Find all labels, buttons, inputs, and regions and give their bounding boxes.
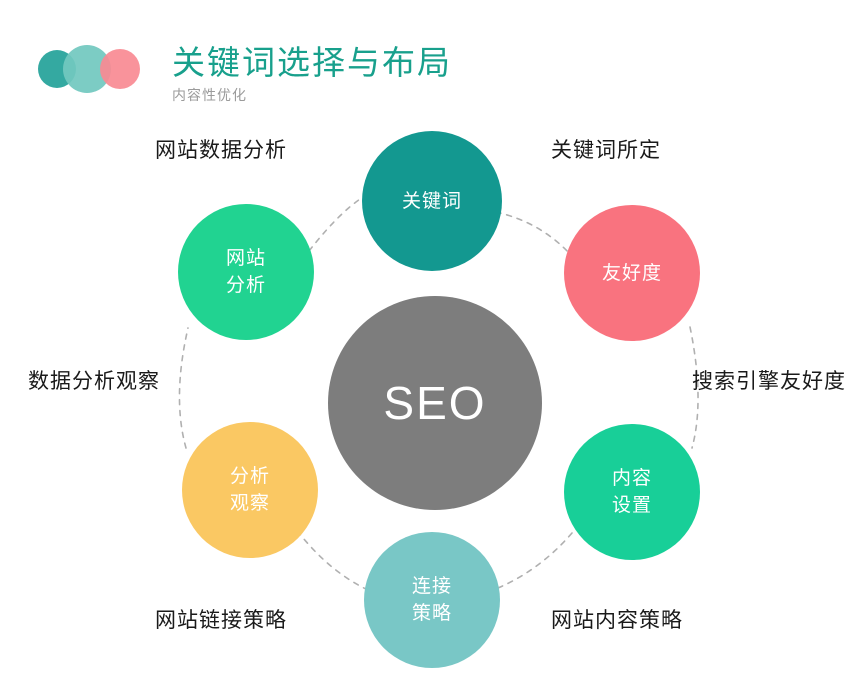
- node-friendly-label: 友好度: [602, 260, 662, 287]
- connector-observe-analysis: [179, 328, 188, 448]
- node-content-setting-label: 内容 设置: [612, 465, 652, 519]
- node-analysis-observation[interactable]: 分析 观察: [182, 422, 318, 558]
- outer-label-site-data: 网站数据分析: [155, 138, 287, 164]
- node-link-strategy[interactable]: 连接 策略: [364, 532, 500, 668]
- outer-label-engine-friendly: 搜索引擎友好度: [692, 369, 846, 395]
- outer-label-link-strategy: 网站链接策略: [155, 608, 287, 634]
- node-friendly[interactable]: 友好度: [564, 205, 700, 341]
- connector-link-observe: [299, 533, 368, 590]
- outer-label-keyword-setting: 关键词所定: [551, 138, 661, 164]
- seo-circular-diagram: SEO 关键词 友好度 内容 设置 连接 策略 分析 观察 网站 分析 网站数据…: [0, 0, 850, 688]
- node-center-seo[interactable]: SEO: [328, 296, 542, 510]
- node-center-label: SEO: [383, 378, 486, 428]
- node-keyword[interactable]: 关键词: [362, 131, 502, 271]
- connector-content-link: [498, 533, 572, 588]
- outer-label-data-observation: 数据分析观察: [28, 369, 160, 395]
- outer-label-content-strategy: 网站内容策略: [551, 608, 683, 634]
- node-link-strategy-label: 连接 策略: [412, 573, 452, 627]
- node-site-analysis[interactable]: 网站 分析: [178, 204, 314, 340]
- node-keyword-label: 关键词: [402, 188, 462, 215]
- node-content-setting[interactable]: 内容 设置: [564, 424, 700, 560]
- node-site-analysis-label: 网站 分析: [226, 245, 266, 299]
- connector-keyword-friendly: [496, 212, 570, 254]
- node-analysis-observation-label: 分析 观察: [230, 463, 270, 517]
